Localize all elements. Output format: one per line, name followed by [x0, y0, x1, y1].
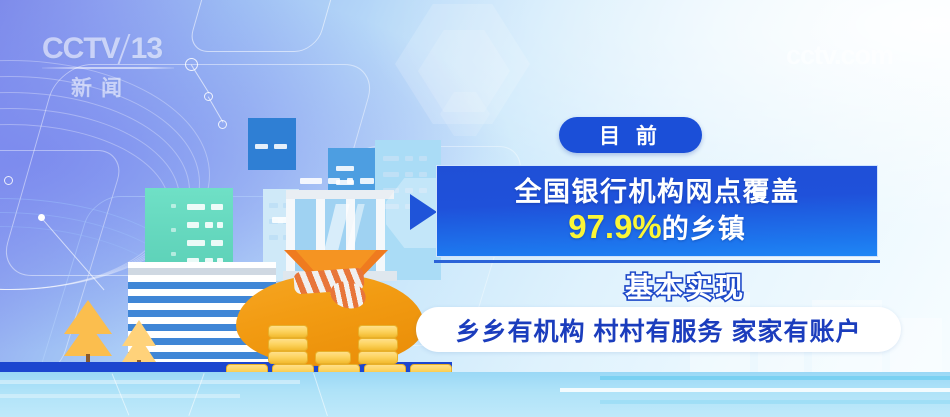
- headline-line-2: 97.9% 的乡镇: [568, 209, 746, 245]
- subheadline: 基本实现: [420, 266, 950, 306]
- headline-percent-value: 97.9%: [568, 209, 662, 245]
- status-badge-current: 目 前: [559, 117, 702, 153]
- bank-roof: [286, 190, 394, 199]
- banner-underline: [434, 260, 880, 263]
- headline-line-1: 全国银行机构网点覆盖: [515, 178, 800, 207]
- banner-arrow-icon: [410, 194, 437, 230]
- broadcast-graphic: CCTV 13 新闻 cctv.com: [0, 0, 950, 417]
- achievements-pill: 乡乡有机构 村村有服务 家家有账户: [416, 307, 901, 352]
- building-dark-blue-top: [248, 118, 296, 170]
- headline-percent-tail: 的乡镇: [662, 215, 746, 244]
- headline-banner: 全国银行机构网点覆盖 97.9% 的乡镇: [436, 165, 878, 257]
- graphic-content: 目 前 全国银行机构网点覆盖 97.9% 的乡镇 基本实现 乡乡有机构 村村有服…: [420, 0, 950, 417]
